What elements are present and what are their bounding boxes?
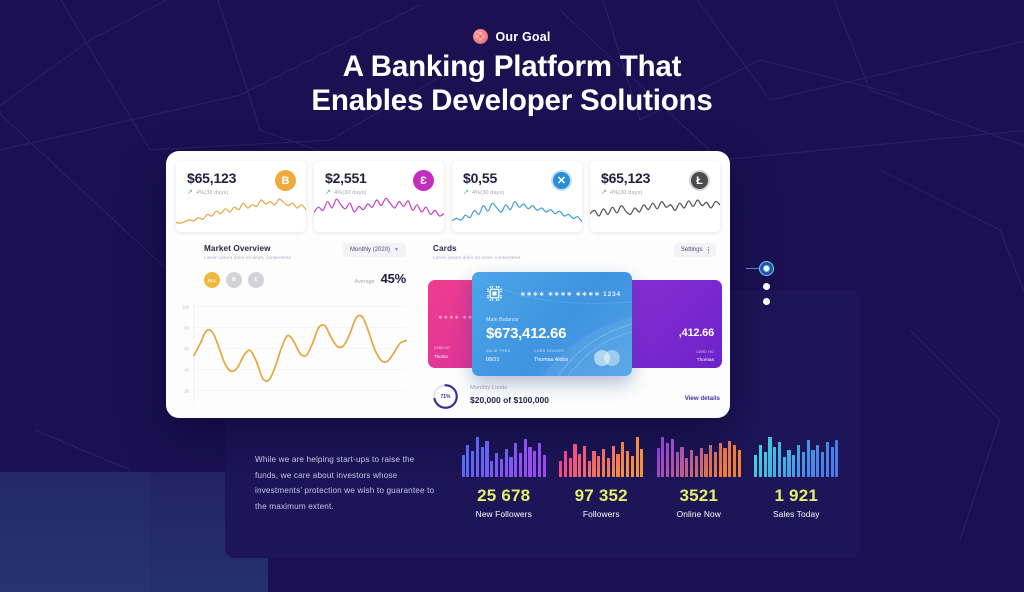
coin-pill-all[interactable]: ALL: [204, 272, 220, 288]
bar: [514, 443, 517, 477]
bar: [471, 451, 474, 477]
bar: [666, 443, 669, 477]
page-root: Our Goal A Banking Platform That Enables…: [0, 0, 1024, 592]
dashboard-screenshot: $65,123↗4%(30 days)B$2,551↗4%(30 days)Ɛ$…: [166, 151, 730, 418]
bar: [754, 455, 757, 478]
coin-price: $0,55: [463, 170, 497, 186]
stat-bar-chart: [650, 437, 748, 477]
card-valid-thru-value: 08/21: [486, 357, 500, 363]
bar: [802, 452, 805, 477]
svg-text:40: 40: [184, 367, 189, 372]
average-value: 45%: [381, 271, 406, 286]
coin-pill-ɛ[interactable]: Ɛ: [248, 272, 264, 288]
coin-symbol-icon: ✕: [551, 170, 572, 191]
bar: [657, 448, 660, 477]
bar: [490, 461, 493, 477]
bar: [559, 461, 562, 478]
coin-symbol-icon: Ł: [689, 170, 710, 191]
market-period-value: Monthly (2020): [350, 247, 390, 253]
average-readout: Average 45%: [355, 271, 406, 286]
stat-new-followers: 25 678New Followers: [455, 437, 553, 527]
svg-text:100: 100: [182, 304, 190, 309]
bar: [783, 457, 786, 477]
flower-percent-icon: [473, 29, 488, 44]
pagination-dot-2[interactable]: [763, 283, 770, 290]
blurb-text: While we are helping start-ups to raise …: [255, 452, 435, 514]
coin-card-litecoin[interactable]: $65,123↗4%(30 days)Ł: [590, 161, 720, 232]
bar: [636, 437, 639, 477]
card-valid-thru-label: VALID THRU: [486, 349, 511, 353]
coin-sparkline: [176, 192, 306, 232]
card-number-last4: 1234: [603, 291, 621, 298]
bar: [719, 443, 722, 477]
coin-symbol-icon: Ɛ: [413, 170, 434, 191]
coin-card-ethereum[interactable]: $2,551↗4%(30 days)Ɛ: [314, 161, 444, 232]
credit-card-stack: ∗∗∗∗ ∗∗∗∗ ∗∗∗∗ CARD HO Thoma ,412.66 CAR…: [418, 272, 730, 376]
bar: [676, 452, 679, 477]
bar: [509, 457, 512, 477]
bar: [709, 445, 712, 477]
bar: [640, 449, 643, 477]
bar: [680, 447, 683, 478]
stat-bar-chart: [455, 437, 553, 477]
bar: [495, 453, 498, 477]
bar: [612, 446, 615, 477]
coin-price: $65,123: [187, 170, 236, 186]
bar: [759, 445, 762, 478]
goal-badge: Our Goal: [0, 29, 1024, 44]
bar: [685, 458, 688, 477]
bar: [588, 461, 591, 478]
credit-card-active[interactable]: ∗∗∗∗ ∗∗∗∗ ∗∗∗∗ 1234 Main Balance $673,41…: [472, 272, 632, 376]
coin-price: $65,123: [601, 170, 650, 186]
back-right-holder-label: CARD HO: [696, 350, 714, 354]
bar: [714, 452, 717, 477]
bar: [533, 451, 536, 477]
coin-price: $2,551: [325, 170, 367, 186]
average-label: Average: [355, 279, 375, 285]
bar: [578, 454, 581, 478]
limits-label: Monthly Limits: [470, 385, 507, 391]
coin-pill-b[interactable]: B: [226, 272, 242, 288]
page-title-line1: A Banking Platform That: [343, 50, 682, 83]
coin-filter-pills: ALLBƐ: [204, 272, 264, 288]
bar: [811, 450, 814, 478]
bar: [626, 451, 629, 477]
bar: [728, 441, 731, 477]
pagination-dot-1[interactable]: [760, 262, 773, 275]
stats-row: 25 678New Followers97 352Followers3521On…: [455, 437, 845, 527]
coin-card-ripple[interactable]: $0,55↗4%(30 days)✕: [452, 161, 582, 232]
market-overview-chart: 20406080100: [174, 295, 410, 413]
page-title: A Banking Platform That Enables Develope…: [0, 50, 1024, 118]
back-left-holder-label: CARD HO: [434, 346, 450, 350]
cards-settings-label: Settings: [681, 247, 703, 253]
bar: [569, 458, 572, 477]
bar: [700, 448, 703, 477]
stat-value: 97 352: [553, 486, 651, 506]
bar: [764, 452, 767, 477]
bar: [733, 445, 736, 477]
vertical-dots-icon: [708, 247, 709, 253]
bar: [778, 442, 781, 477]
stat-sales-today: 1 921Sales Today: [748, 437, 846, 527]
monthly-limits: 71% Monthly Limits $20,000 of $100,000 V…: [432, 383, 722, 417]
back-right-balance: ,412.66: [679, 327, 714, 339]
coin-symbol-icon: B: [275, 170, 296, 191]
bar: [505, 449, 508, 477]
bar: [500, 459, 503, 477]
bar: [797, 445, 800, 478]
bar: [466, 445, 469, 477]
bar: [787, 450, 790, 478]
cards-settings-button[interactable]: Settings: [674, 243, 716, 257]
bar: [723, 448, 726, 477]
stat-value: 3521: [650, 486, 748, 506]
bar: [543, 455, 546, 477]
back-right-holder: Thomas: [697, 358, 714, 363]
stat-label: Followers: [553, 509, 651, 519]
bar: [528, 447, 531, 477]
coin-sparkline: [314, 192, 444, 232]
svg-text:20: 20: [184, 388, 189, 393]
limits-value: $20,000 of $100,000: [470, 395, 549, 405]
card-holder-value: Thomas Aldos: [534, 357, 568, 363]
bar: [621, 442, 624, 477]
bar: [807, 440, 810, 478]
bar: [835, 440, 838, 478]
bar: [773, 447, 776, 477]
stat-label: Online Now: [650, 509, 748, 519]
cards-panel: Cards Lorem ipsum dolor sit amet, consec…: [418, 235, 730, 418]
card-holder-label: CARD HOLDER: [534, 349, 564, 353]
coin-sparkline: [590, 192, 720, 232]
bar: [524, 439, 527, 477]
bar: [485, 441, 488, 477]
bar: [826, 442, 829, 477]
back-left-holder: Thoma: [434, 354, 448, 359]
stat-bar-chart: [553, 437, 651, 477]
stat-label: New Followers: [455, 509, 553, 519]
bar: [738, 450, 741, 477]
bar: [831, 447, 834, 477]
coin-stats-row: $65,123↗4%(30 days)B$2,551↗4%(30 days)Ɛ$…: [166, 151, 730, 232]
bar: [704, 454, 707, 477]
coin-card-bitcoin[interactable]: $65,123↗4%(30 days)B: [176, 161, 306, 232]
background-band-inner: [0, 472, 150, 592]
market-period-select[interactable]: Monthly (2020) ▼: [343, 243, 406, 257]
bar: [695, 456, 698, 477]
bar: [519, 453, 522, 477]
bar: [573, 444, 576, 477]
bar: [602, 449, 605, 477]
market-overview-panel: Market Overview Lorem ipsum dolor sit am…: [166, 235, 418, 418]
view-details-link[interactable]: View details: [685, 395, 720, 402]
stat-bar-chart: [748, 437, 846, 477]
mastercard-icon: [594, 350, 620, 366]
card-balance-value: $673,412.66: [486, 325, 566, 342]
bar: [564, 451, 567, 477]
stat-online-now: 3521Online Now: [650, 437, 748, 527]
stat-value: 25 678: [455, 486, 553, 506]
stat-label: Sales Today: [748, 509, 846, 519]
bar: [792, 455, 795, 478]
bar: [768, 437, 771, 477]
bar: [538, 443, 541, 477]
svg-text:80: 80: [184, 325, 189, 330]
bar: [616, 454, 619, 478]
svg-text:60: 60: [184, 346, 189, 351]
stat-value: 1 921: [748, 486, 846, 506]
bar: [462, 455, 465, 477]
bar: [821, 452, 824, 477]
bar: [592, 451, 595, 477]
bar: [583, 446, 586, 477]
pagination-dot-3[interactable]: [763, 298, 770, 305]
limits-percent: 71%: [432, 383, 459, 410]
carousel-pagination: [752, 262, 782, 312]
bar: [671, 439, 674, 477]
page-title-line2: Enables Developer Solutions: [0, 84, 1024, 118]
pagination-connector: [746, 268, 760, 269]
coin-sparkline: [452, 192, 582, 232]
bar: [607, 458, 610, 477]
card-number-masked: ∗∗∗∗ ∗∗∗∗ ∗∗∗∗: [520, 291, 600, 298]
card-balance-label: Main Balance: [486, 317, 519, 323]
bar: [816, 445, 819, 478]
bar: [661, 437, 664, 477]
bar: [481, 447, 484, 477]
bar: [597, 456, 600, 477]
stat-followers: 97 352Followers: [553, 437, 651, 527]
chevron-down-icon: ▼: [394, 247, 399, 253]
goal-badge-label: Our Goal: [495, 30, 550, 44]
bar: [631, 456, 634, 477]
bar: [690, 450, 693, 477]
bar: [476, 437, 479, 477]
card-number: ∗∗∗∗ ∗∗∗∗ ∗∗∗∗ 1234: [520, 290, 621, 298]
emv-chip-icon: [486, 285, 503, 302]
